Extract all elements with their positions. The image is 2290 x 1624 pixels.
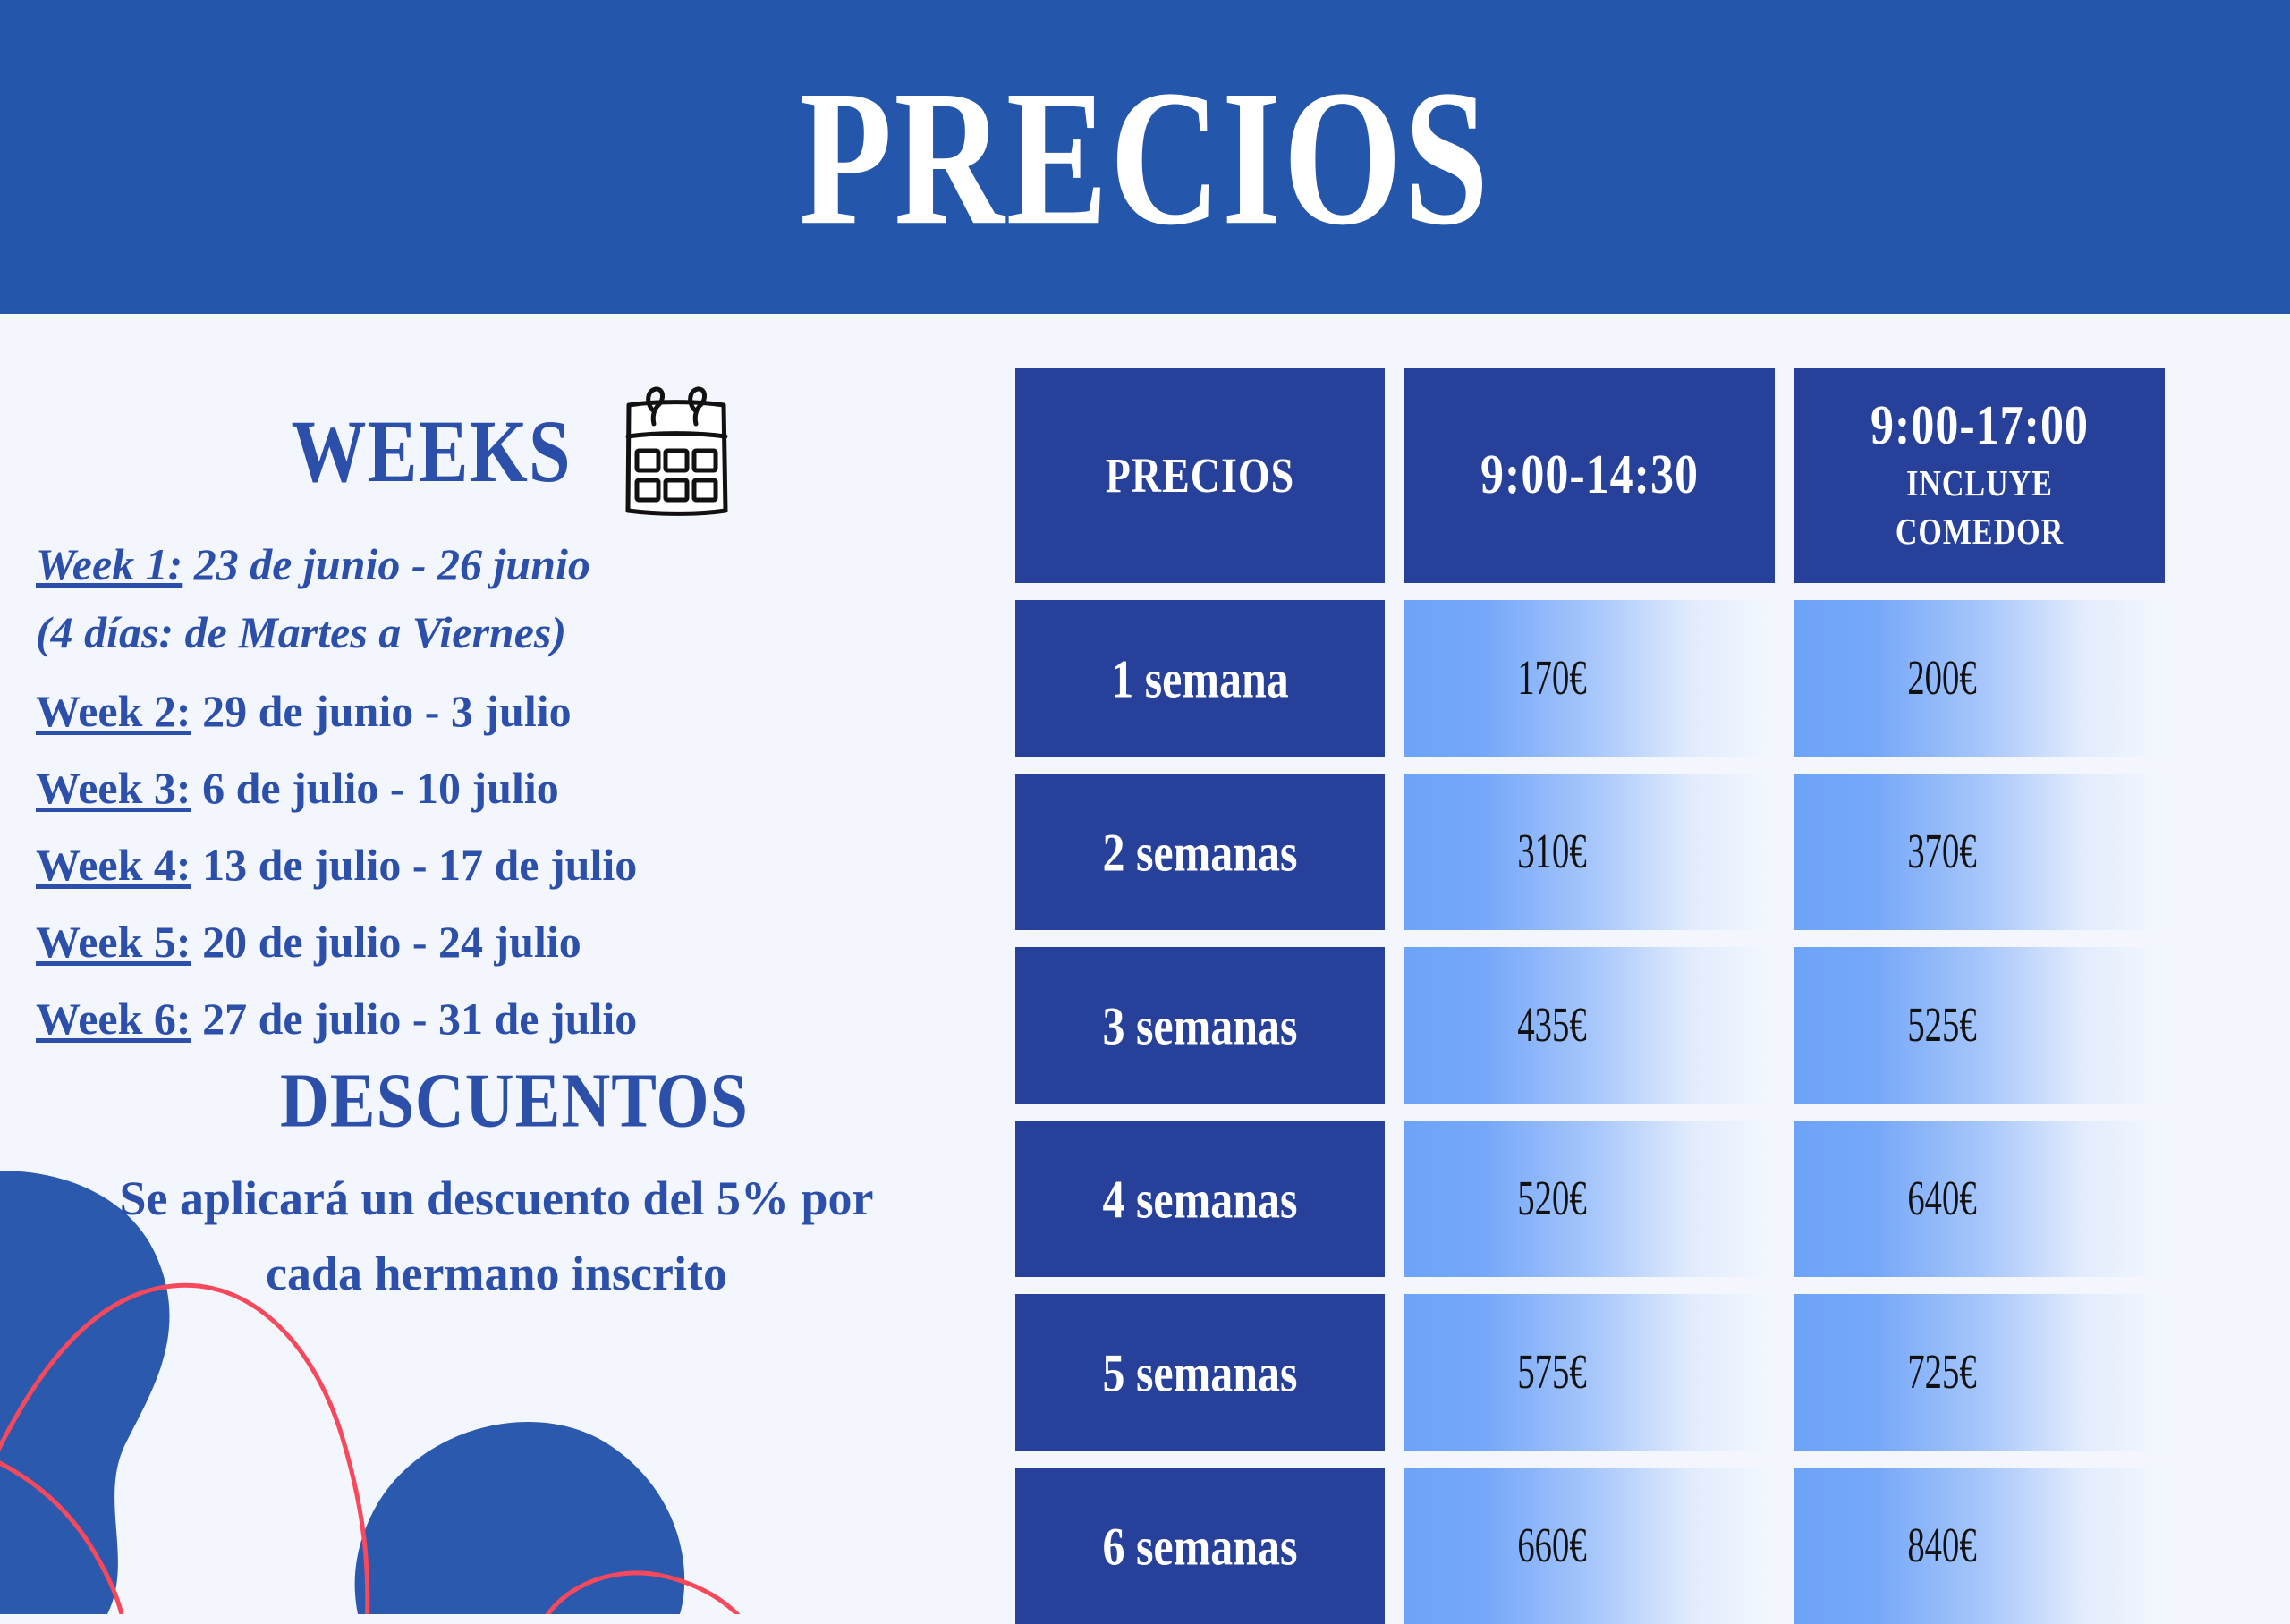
discounts-text-line-2: cada hermano inscrito — [54, 1237, 939, 1312]
week-item-1: Week 1: 23 de junio - 26 junio — [36, 536, 966, 593]
price-value-halfday-2: 310€ — [1517, 827, 1586, 876]
row-label-cell-3: 3 semanas — [1015, 947, 1385, 1104]
row-label-cell-5: 5 semanas — [1015, 1294, 1385, 1451]
week-1-dates: 23 de junio - 26 junio — [182, 539, 590, 589]
price-cell-fullday-6: 840€ — [1794, 1468, 2165, 1624]
weeks-heading-row: WEEKS — [36, 385, 966, 520]
left-info-column: WEEKS Week 1: 23 de junio - 26 junio (4 … — [0, 314, 1002, 1614]
price-cell-fullday-2: 370€ — [1794, 774, 2165, 930]
price-value-fullday-6: 840€ — [1907, 1521, 1976, 1570]
table-row: 6 semanas 660€ 840€ — [1015, 1468, 2165, 1624]
price-value-halfday-5: 575€ — [1517, 1348, 1586, 1397]
table-row: 3 semanas 435€ 525€ — [1015, 947, 2165, 1104]
price-cell-fullday-4: 640€ — [1794, 1121, 2165, 1277]
calendar-icon — [613, 385, 738, 520]
price-value-halfday-4: 520€ — [1517, 1174, 1586, 1223]
discounts-text: Se aplicará un descuento del 5% por cada… — [36, 1162, 966, 1311]
price-cell-halfday-6: 660€ — [1404, 1468, 1775, 1624]
row-label-cell-1: 1 semana — [1015, 600, 1385, 757]
row-label-cell-2: 2 semanas — [1015, 774, 1385, 930]
table-header-halfday-label: 9:00-14:30 — [1480, 448, 1699, 503]
row-label-3: 3 semanas — [1102, 999, 1297, 1053]
week-2-dates: 29 de junio - 3 julio — [191, 686, 572, 736]
table-row: 2 semanas 310€ 370€ — [1015, 774, 2165, 930]
price-cell-fullday-5: 725€ — [1794, 1294, 2165, 1451]
table-header-halfday: 9:00-14:30 — [1404, 368, 1775, 583]
price-value-halfday-1: 170€ — [1517, 654, 1586, 703]
row-label-cell-6: 6 semanas — [1015, 1468, 1385, 1624]
price-cell-fullday-1: 200€ — [1794, 600, 2165, 757]
week-item-3: Week 3: 6 de julio - 10 julio — [36, 759, 966, 816]
week-4-dates: 13 de julio - 17 de julio — [191, 840, 638, 890]
week-1-note: (4 días: de Martes a Viernes) — [36, 605, 966, 659]
row-label-2: 2 semanas — [1102, 825, 1297, 879]
row-label-cell-4: 4 semanas — [1015, 1121, 1385, 1277]
price-cell-halfday-5: 575€ — [1404, 1294, 1775, 1451]
table-row: 1 semana 170€ 200€ — [1015, 600, 2165, 757]
page-header-banner: PRECIOS — [0, 0, 2290, 314]
price-cell-halfday-3: 435€ — [1404, 947, 1775, 1104]
table-header-fullday-sub1: INCLUYE — [1906, 467, 2053, 503]
week-3-label: Week 3: — [36, 763, 191, 813]
week-item-4: Week 4: 13 de julio - 17 de julio — [36, 836, 966, 893]
row-label-4: 4 semanas — [1102, 1172, 1297, 1226]
week-6-dates: 27 de julio - 31 de julio — [191, 994, 638, 1044]
table-header-precios: PRECIOS — [1015, 368, 1385, 583]
price-value-fullday-1: 200€ — [1907, 654, 1976, 703]
weeks-list: Week 1: 23 de junio - 26 junio (4 días: … — [36, 536, 966, 1047]
week-item-5: Week 5: 20 de julio - 24 julio — [36, 913, 966, 970]
price-value-fullday-5: 725€ — [1907, 1348, 1976, 1397]
price-value-halfday-3: 435€ — [1517, 1001, 1586, 1050]
week-6-label: Week 6: — [36, 994, 191, 1044]
table-header-fullday: 9:00-17:00 INCLUYE COMEDOR — [1794, 368, 2165, 583]
price-cell-halfday-1: 170€ — [1404, 600, 1775, 757]
week-3-dates: 6 de julio - 10 julio — [191, 763, 559, 813]
price-cell-fullday-3: 525€ — [1794, 947, 2165, 1104]
week-item-6: Week 6: 27 de julio - 31 de julio — [36, 990, 966, 1047]
price-table: PRECIOS 9:00-14:30 9:00-17:00 INCLUYE CO… — [1015, 368, 2165, 1624]
table-header-fullday-label: 9:00-17:00 — [1870, 399, 2089, 454]
table-row: 4 semanas 520€ 640€ — [1015, 1121, 2165, 1277]
row-label-1: 1 semana — [1111, 652, 1289, 706]
week-5-label: Week 5: — [36, 917, 191, 967]
table-header-row: PRECIOS 9:00-14:30 9:00-17:00 INCLUYE CO… — [1015, 368, 2165, 583]
price-value-fullday-4: 640€ — [1907, 1174, 1976, 1223]
price-cell-halfday-4: 520€ — [1404, 1121, 1775, 1277]
week-4-label: Week 4: — [36, 840, 191, 890]
week-2-label: Week 2: — [36, 686, 191, 736]
table-row: 5 semanas 575€ 725€ — [1015, 1294, 2165, 1451]
weeks-title: WEEKS — [291, 408, 571, 496]
price-value-fullday-3: 525€ — [1907, 1001, 1976, 1050]
table-header-precios-label: PRECIOS — [1106, 451, 1294, 500]
week-item-2: Week 2: 29 de junio - 3 julio — [36, 682, 966, 740]
week-5-dates: 20 de julio - 24 julio — [191, 917, 581, 967]
row-label-6: 6 semanas — [1102, 1519, 1297, 1573]
price-cell-halfday-2: 310€ — [1404, 774, 1775, 930]
discounts-title: DESCUENTOS — [36, 1062, 966, 1140]
table-header-fullday-sub2: COMEDOR — [1896, 515, 2064, 552]
price-value-fullday-2: 370€ — [1907, 827, 1976, 876]
week-1-label: Week 1: — [36, 539, 182, 589]
row-label-5: 5 semanas — [1102, 1346, 1297, 1400]
page-title: PRECIOS — [799, 60, 1490, 254]
price-value-halfday-6: 660€ — [1517, 1521, 1586, 1570]
discounts-text-line-1: Se aplicará un descuento del 5% por — [54, 1162, 939, 1237]
